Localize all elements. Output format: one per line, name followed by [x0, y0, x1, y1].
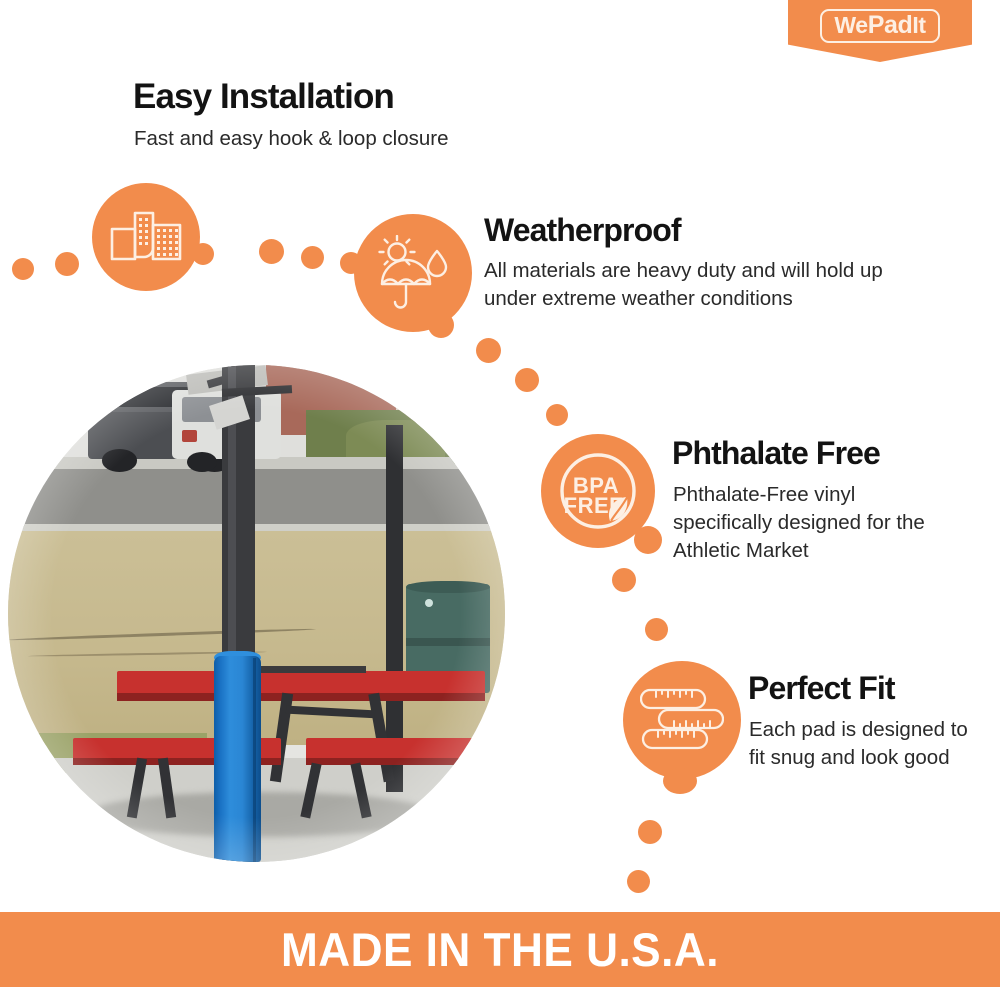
- feature-description-weatherproof: All materials are heavy duty and will ho…: [484, 257, 914, 313]
- trail-dot: [638, 820, 662, 844]
- bpa-free-leaf-icon: BPA FREE: [550, 443, 646, 539]
- trail-dot: [259, 239, 284, 264]
- trail-dot: [645, 618, 668, 641]
- photo-barrel-band: [406, 638, 490, 645]
- icon-blob-accent: [663, 768, 697, 794]
- trail-dot: [55, 252, 79, 276]
- photo-table-top: [117, 671, 485, 696]
- icon-blob-accent: [340, 252, 362, 274]
- feature-description-phthalate-free: Phthalate-Free vinyl specifically design…: [673, 481, 943, 565]
- photo-table-bench-shadow: [306, 758, 485, 765]
- logo-text-pad: Pad: [868, 11, 913, 39]
- feature-title-phthalate-free: Phthalate Free: [672, 437, 880, 471]
- product-photo: [8, 365, 505, 862]
- trail-dot: [476, 338, 501, 363]
- brand-logo-badge: WePadIt: [788, 0, 972, 62]
- brand-logo-frame: WePadIt: [820, 9, 939, 43]
- measuring-tape-icon: [640, 678, 724, 762]
- feature-description-easy-installation: Fast and easy hook & loop closure: [134, 125, 554, 153]
- trail-dot: [515, 368, 539, 392]
- icon-blob-accent: [192, 243, 214, 265]
- trail-dot: [12, 258, 34, 280]
- photo-table-bench: [306, 738, 485, 760]
- product-photo-scene: [8, 365, 505, 862]
- feature-title-weatherproof: Weatherproof: [484, 214, 681, 248]
- made-in-usa-banner: MADE IN THE U.S.A.: [0, 912, 1000, 987]
- photo-suv-wheel: [102, 449, 137, 471]
- photo-table-top-shadow: [117, 693, 485, 701]
- feature-icon-weatherproof: [354, 214, 472, 332]
- made-in-usa-text: MADE IN THE U.S.A.: [281, 922, 719, 977]
- icon-blob-accent: [428, 312, 454, 338]
- photo-road: [8, 469, 505, 529]
- trail-dot: [301, 246, 324, 269]
- photo-van-taillight: [182, 430, 197, 442]
- trail-dot: [612, 568, 636, 592]
- feature-description-perfect-fit: Each pad is designed to fit snug and loo…: [749, 716, 979, 772]
- photo-van-wheel: [187, 452, 217, 472]
- photo-pole-pad-seam: [253, 658, 256, 862]
- trail-dot: [546, 404, 568, 426]
- photo-barrel-highlight: [425, 599, 433, 607]
- icon-blob-accent: [634, 526, 662, 554]
- photo-barrel-rim: [406, 581, 490, 593]
- logo-text-we: We: [834, 12, 867, 38]
- feature-title-easy-installation: Easy Installation: [133, 79, 394, 116]
- trail-dot: [627, 870, 650, 893]
- feature-icon-perfect-fit: [623, 661, 741, 779]
- hook-and-loop-icon: [109, 207, 183, 267]
- sun-umbrella-raindrop-icon: [373, 235, 453, 311]
- feature-title-perfect-fit: Perfect Fit: [748, 672, 895, 706]
- infographic-canvas: WePadIt Easy Installation Fast and easy …: [0, 0, 1000, 987]
- feature-icon-easy-installation: [92, 183, 200, 291]
- logo-text-it: It: [912, 12, 925, 38]
